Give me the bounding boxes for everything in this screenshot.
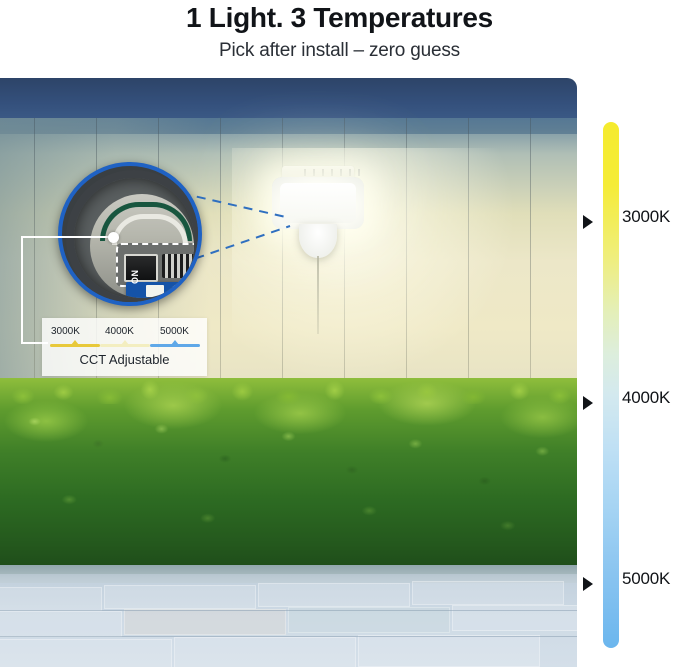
blue-switch: ON <box>126 282 184 298</box>
scale-label-3000k: 3000K <box>622 207 670 227</box>
cct-caption: CCT Adjustable <box>42 352 207 367</box>
triangle-pointer-icon <box>583 577 593 591</box>
scale-label-4000k: 4000K <box>622 388 670 408</box>
cct-option-3000k: 3000K <box>51 326 80 337</box>
wall-pole <box>317 256 319 334</box>
magnifier-rim: ON <box>66 170 202 306</box>
bracket-slots <box>304 169 360 176</box>
infographic-canvas: 1 Light. 3 Temperatures Pick after insta… <box>0 0 679 667</box>
triangle-pointer-icon <box>583 396 593 410</box>
cct-color-bar <box>50 344 200 347</box>
flood-light-fixture <box>268 166 368 264</box>
cct-marker-3000k <box>71 340 79 345</box>
cct-marker-4000k <box>121 340 129 345</box>
switch-toggle <box>146 285 164 297</box>
cct-adjustable-panel: 3000K 4000K 5000K CCT Adjustable <box>42 318 207 376</box>
dip-switch-teeth <box>162 254 194 278</box>
page-subtitle: Pick after install – zero guess <box>0 40 679 62</box>
scale-label-5000k: 5000K <box>622 569 670 589</box>
product-scene-photo: ON 3000K 4000K 5000K <box>0 78 577 667</box>
cct-option-labels: 3000K 4000K 5000K <box>42 326 207 340</box>
triangle-pointer-icon <box>583 215 593 229</box>
hedge <box>0 378 577 574</box>
page-title: 1 Light. 3 Temperatures <box>0 2 679 34</box>
hedge-foliage <box>0 388 577 574</box>
motion-sensor-dome <box>299 224 337 258</box>
led-panel <box>272 177 364 229</box>
pavement <box>0 583 577 667</box>
switch-on-label: ON <box>130 270 140 285</box>
cct-marker-5000k <box>171 340 179 345</box>
dip-switch-highlight <box>116 243 194 287</box>
cct-option-5000k: 5000K <box>160 326 189 337</box>
cct-option-4000k: 4000K <box>105 326 134 337</box>
leader-dot <box>108 232 119 243</box>
magnifier-content: ON <box>90 194 194 298</box>
color-temperature-scale <box>603 122 619 648</box>
cct-dip-switch-closeup: ON <box>58 162 202 306</box>
led-panel-face <box>280 183 356 223</box>
